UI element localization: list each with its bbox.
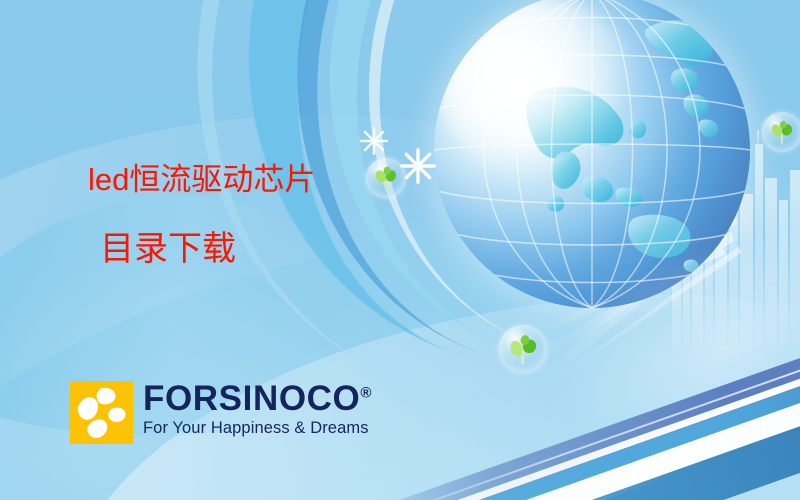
headline-line-2: 目录下载 bbox=[100, 232, 236, 266]
bubble-with-green-sprout-icon bbox=[366, 158, 406, 198]
green-sprout-icon bbox=[769, 119, 795, 145]
logo-lockup: FORSINOCO® For Your Happiness & Dreams bbox=[70, 381, 372, 444]
headline-line-1: led恒流驱动芯片 bbox=[88, 164, 315, 195]
green-sprout-icon bbox=[373, 165, 399, 191]
banner-graphic: led恒流驱动芯片 目录下载 FORSINOCO® Fo bbox=[0, 0, 800, 500]
starburst-sparkle-icon bbox=[359, 126, 389, 156]
registered-trademark-symbol: ® bbox=[360, 384, 372, 401]
four-petal-pinwheel-icon bbox=[70, 381, 133, 444]
bubble-with-green-sprout-icon bbox=[762, 112, 800, 152]
logo-tagline: For Your Happiness & Dreams bbox=[143, 419, 372, 437]
logo-wordmark: FORSINOCO® bbox=[143, 382, 372, 416]
logo-name-text: FORSINOCO bbox=[143, 379, 360, 418]
logo-text-block: FORSINOCO® For Your Happiness & Dreams bbox=[143, 381, 372, 437]
